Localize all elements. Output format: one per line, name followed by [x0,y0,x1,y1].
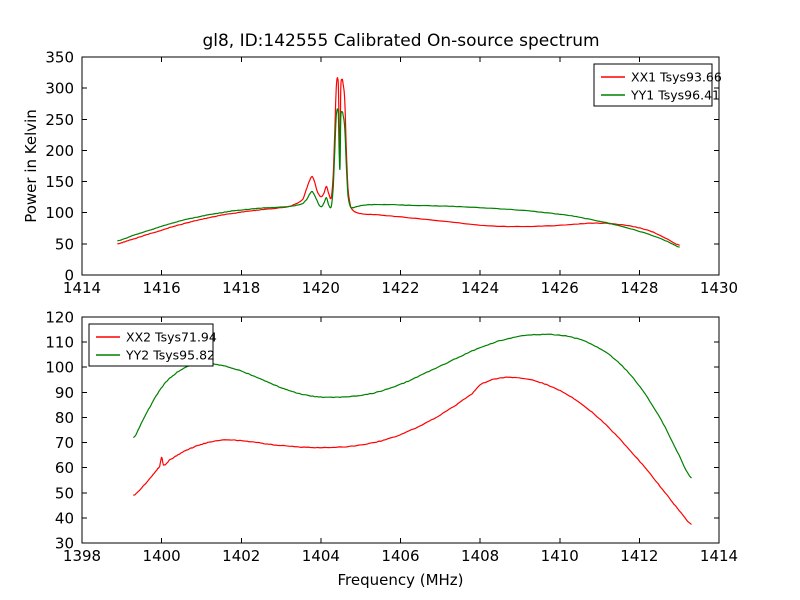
x-tick-label: 1414 [700,547,738,565]
x-tick-label: 1420 [302,279,340,297]
x-axis-title: Frequency (MHz) [337,571,463,589]
y-tick-label: 150 [45,173,74,191]
x-tick-label: 1430 [700,279,738,297]
y-tick-label: 70 [55,434,74,452]
spectrum-plot-canvas: gl8, ID:142555 Calibrated On-source spec… [0,0,800,600]
x-tick-label: 1428 [620,279,658,297]
y-tick-label: 250 [45,111,74,129]
y-tick-label: 50 [55,235,74,253]
x-tick-label: 1408 [461,547,499,565]
y-tick-label: 60 [55,459,74,477]
y-tick-label: 120 [45,309,74,327]
x-tick-label: 1416 [143,279,181,297]
x-tick-label: 1402 [222,547,260,565]
x-tick-label: 1422 [381,279,419,297]
y-tick-label: 100 [45,359,74,377]
y-axis-title: Power in Kelvin [22,109,40,223]
legend-label: XX1 Tsys93.66 [631,70,722,85]
y-tick-label: 0 [64,267,74,285]
y-tick-label: 300 [45,80,74,98]
legend-label: YY2 Tsys95.82 [125,348,215,363]
y-tick-label: 40 [55,509,74,527]
x-tick-label: 1400 [143,547,181,565]
y-tick-label: 80 [55,409,74,427]
x-tick-label: 1412 [620,547,658,565]
x-tick-label: 1406 [381,547,419,565]
y-tick-label: 30 [55,535,74,553]
y-tick-label: 90 [55,384,74,402]
legend-label: XX2 Tsys71.94 [126,330,217,345]
x-tick-label: 1418 [222,279,260,297]
y-tick-label: 100 [45,204,74,222]
page-title: gl8, ID:142555 Calibrated On-source spec… [202,31,599,51]
y-tick-label: 50 [55,484,74,502]
x-tick-label: 1404 [302,547,340,565]
matplotlib-figure: gl8, ID:142555 Calibrated On-source spec… [0,0,800,600]
legend-label: YY1 Tsys96.41 [630,88,720,103]
y-tick-label: 200 [45,142,74,160]
x-tick-label: 1426 [541,279,579,297]
y-tick-label: 350 [45,49,74,67]
legend: XX2 Tsys71.94YY2 Tsys95.82 [89,324,217,366]
y-tick-label: 110 [45,334,74,352]
x-tick-label: 1424 [461,279,499,297]
legend: XX1 Tsys93.66YY1 Tsys96.41 [594,64,722,106]
x-tick-label: 1410 [541,547,579,565]
